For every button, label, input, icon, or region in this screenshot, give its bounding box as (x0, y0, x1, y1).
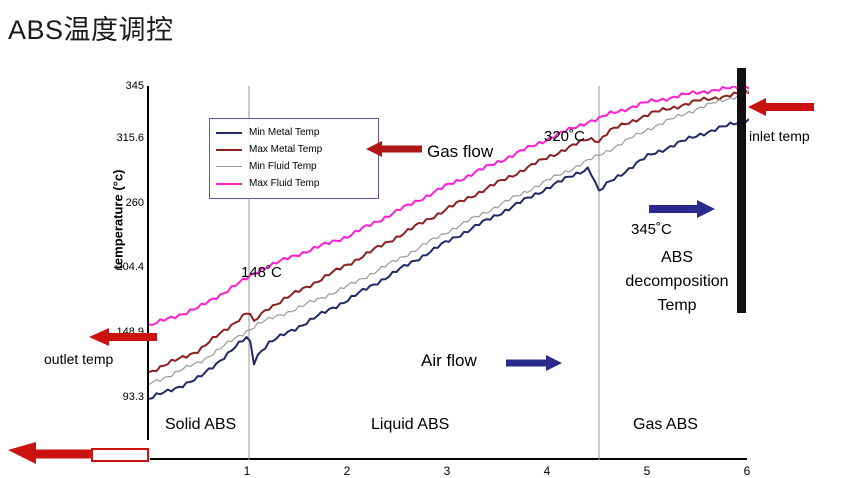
annotation-air-flow: Air flow (421, 351, 477, 371)
annotation-liquid-abs: Liquid ABS (371, 416, 449, 434)
legend-swatch-max-fluid-temp (216, 183, 242, 185)
x-tick-4: 4 (532, 464, 562, 478)
legend-item-max-metal-temp: Max Metal Temp (216, 141, 372, 158)
outlet-temp-arrow-icon (87, 326, 159, 348)
page-title: ABS温度调控 (8, 8, 174, 47)
x-tick-1: 1 (232, 464, 262, 478)
decoration-red-arrow-icon (0, 440, 150, 475)
legend-label-max-fluid-temp: Max Fluid Temp (249, 178, 319, 189)
legend-swatch-min-fluid-temp (216, 166, 242, 167)
chart-legend: Min Metal Temp Max Metal Temp Min Fluid … (209, 118, 379, 199)
legend-label-max-metal-temp: Max Metal Temp (249, 144, 322, 155)
legend-label-min-metal-temp: Min Metal Temp (249, 127, 319, 138)
annotation-gas-flow: Gas flow (427, 142, 493, 162)
x-tick-3: 3 (432, 464, 462, 478)
annotation-abs-decomposition-temp: ABS decomposition Temp (612, 246, 742, 318)
y-tick-345: 345 (84, 80, 144, 92)
decomposition-arrow-icon (647, 198, 717, 220)
temperature-chart: temperature (°c) 345 315.6 260 204.4 148… (110, 62, 770, 475)
annotation-inlet-temp: inlet temp (749, 128, 810, 144)
annotation-gas-abs: Gas ABS (633, 416, 698, 434)
y-tick-204: 204.4 (84, 261, 144, 273)
gas-flow-arrow-icon (364, 138, 424, 160)
annotation-320c: 320˚C (544, 128, 585, 145)
y-axis-label: temperature (°c) (111, 140, 126, 300)
annotation-outlet-temp: outlet temp (44, 351, 113, 367)
y-tick-315: 315.6 (84, 132, 144, 144)
air-flow-arrow-icon (504, 352, 564, 374)
y-tick-93: 93.3 (84, 391, 144, 403)
legend-swatch-max-metal-temp (216, 149, 242, 151)
x-tick-5: 5 (632, 464, 662, 478)
legend-item-min-fluid-temp: Min Fluid Temp (216, 158, 372, 175)
y-tick-260: 260 (84, 197, 144, 209)
legend-item-max-fluid-temp: Max Fluid Temp (216, 175, 372, 192)
annotation-solid-abs: Solid ABS (165, 416, 236, 434)
x-tick-6: 6 (732, 464, 762, 478)
annotation-148c: 148˚C (241, 264, 282, 281)
legend-label-min-fluid-temp: Min Fluid Temp (249, 161, 317, 172)
legend-item-min-metal-temp: Min Metal Temp (216, 124, 372, 141)
legend-swatch-min-metal-temp (216, 132, 242, 134)
inlet-temp-arrow-icon (746, 96, 816, 118)
plot-area: Min Metal Temp Max Metal Temp Min Fluid … (147, 86, 747, 460)
annotation-345c: 345˚C (631, 221, 672, 238)
x-tick-2: 2 (332, 464, 362, 478)
